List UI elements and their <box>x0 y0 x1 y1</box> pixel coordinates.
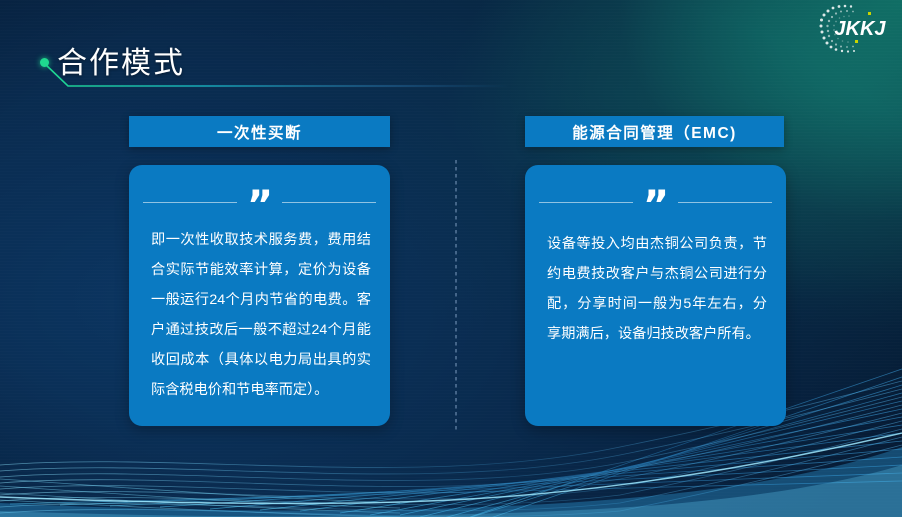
card-body-left: ” 即一次性收取技术服务费，费用结合实际节能效率计算，定价为设备一般运行24个月… <box>129 165 390 426</box>
card-text-left: 即一次性收取技术服务费，费用结合实际节能效率计算，定价为设备一般运行24个月内节… <box>151 225 371 405</box>
column-divider <box>455 160 457 432</box>
page-title-block: 合作模式 <box>40 42 510 88</box>
quote-mark-icon: ” <box>247 186 272 226</box>
card-header-left-label: 一次性买断 <box>217 121 302 143</box>
quote-mark-icon: ” <box>643 186 668 226</box>
card-text-right: 设备等投入均由杰铜公司负责，节约电费技改客户与杰铜公司进行分配，分享时间一般为5… <box>547 229 767 349</box>
card-header-right[interactable]: 能源合同管理（EMC) <box>525 116 784 147</box>
title-accent-dot <box>40 58 49 67</box>
card-header-left[interactable]: 一次性买断 <box>129 116 390 147</box>
quote-rule-right-end <box>678 202 772 203</box>
quote-rule-left-end <box>282 202 376 203</box>
quote-divider-right: ” <box>539 179 772 225</box>
quote-divider-left: ” <box>143 179 376 225</box>
quote-rule-left-start <box>143 202 237 203</box>
brand-logo: JKKJ <box>808 2 894 54</box>
quote-rule-right-start <box>539 202 633 203</box>
slide-canvas: JKKJ 合作模式 一次性买断 <box>0 0 902 517</box>
page-title: 合作模式 <box>57 38 185 82</box>
card-body-right: ” 设备等投入均由杰铜公司负责，节约电费技改客户与杰铜公司进行分配，分享时间一般… <box>525 165 786 426</box>
logo-wordmark: JKKJ <box>834 18 886 40</box>
card-header-right-label: 能源合同管理（EMC) <box>572 121 737 143</box>
